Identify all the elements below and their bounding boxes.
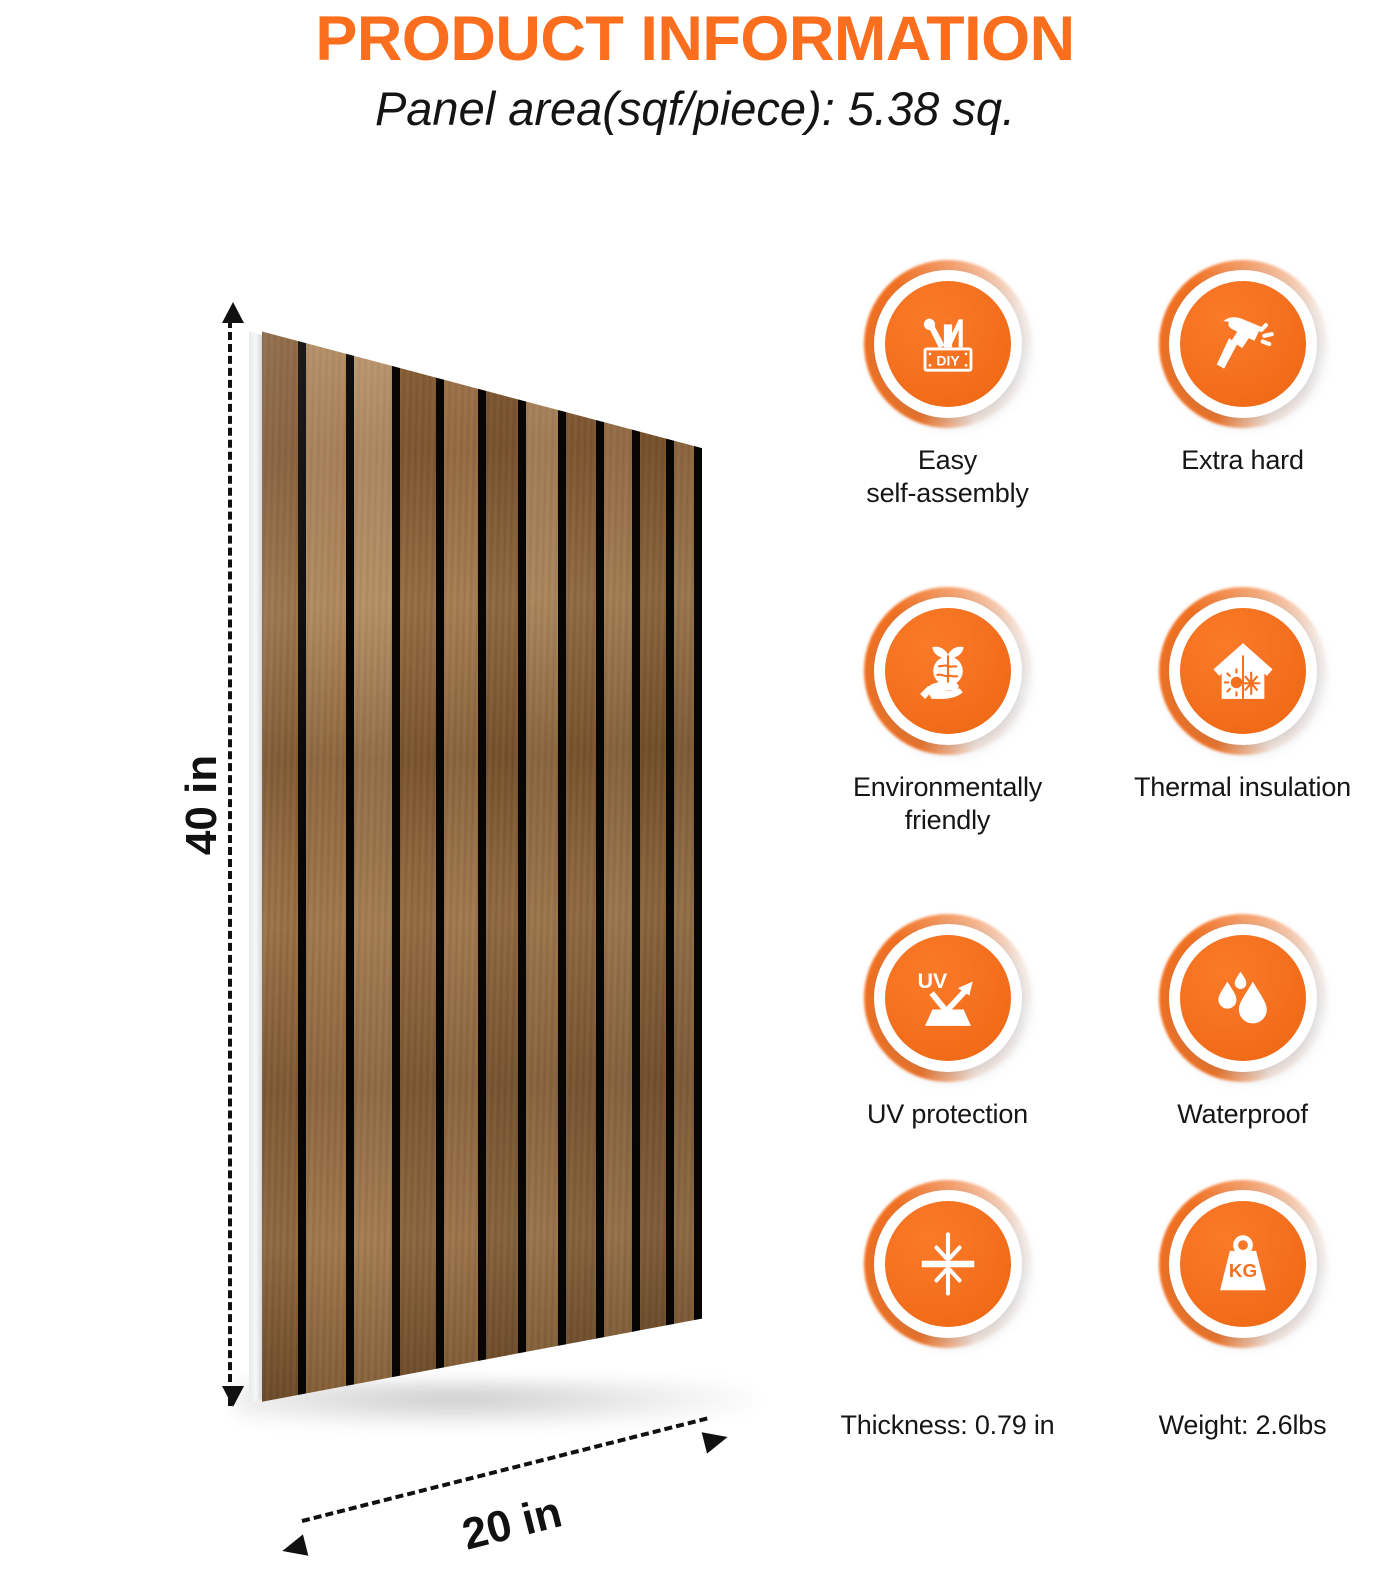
main-content: 40 in 20 in [0,180,1390,1500]
wood-slat [486,325,526,1405]
dimension-arrow-down [222,1386,244,1407]
badge: KG [1159,1180,1327,1348]
feature-label: Easy self-assembly [866,444,1028,510]
svg-text:KG: KG [1228,1260,1256,1281]
features-grid: DIY Easy self-assembly [800,260,1390,1241]
uv-reflection-icon: UV [885,935,1011,1061]
features-pane: DIY Easy self-assembly [800,180,1390,1500]
water-droplets-icon [1180,935,1306,1061]
feature-environmentally-friendly: Environmentally friendly [803,587,1093,914]
wood-slat [674,325,702,1405]
wood-slat [354,325,400,1405]
wood-panel-illustration [262,325,702,1405]
spec-thickness: Thickness: 0.79 in [803,1180,1093,1441]
wood-slat [526,325,566,1405]
house-thermal-icon [1180,608,1306,734]
badge [1159,587,1327,755]
feature-label: UV protection [867,1098,1028,1131]
badge [1159,914,1327,1082]
width-dimension-group: 20 in [280,1415,740,1585]
svg-text:UV: UV [917,969,947,993]
header: PRODUCT INFORMATION Panel area(sqf/piece… [0,0,1390,139]
hammer-icon [1180,281,1306,407]
page-title: PRODUCT INFORMATION [0,6,1390,72]
feature-label: Environmentally friendly [853,771,1042,837]
badge [864,1180,1032,1348]
dimension-arrow-right [702,1426,731,1453]
thickness-caliper-icon [885,1201,1011,1327]
weight-kg-icon: KG [1180,1201,1306,1327]
spec-label: Weight: 2.6lbs [1159,1410,1327,1441]
wood-slat [444,325,486,1405]
feature-thermal-insulation: Thermal insulation [1098,587,1388,914]
wood-slat [262,325,306,1405]
diy-tools-icon: DIY [885,281,1011,407]
dimension-arrow-up [222,302,244,323]
svg-text:DIY: DIY [936,352,960,368]
page-subtitle: Panel area(sqf/piece): 5.38 sq. [0,80,1390,139]
wood-slat [306,325,354,1405]
wood-slat [400,325,444,1405]
product-image-pane: 40 in 20 in [0,180,800,1500]
width-dimension-label: 20 in [457,1487,566,1560]
specs-row: Thickness: 0.79 in KG Weight: 2.6l [800,1180,1390,1441]
hand-holding-globe-icon [885,608,1011,734]
spec-label: Thickness: 0.79 in [840,1410,1054,1441]
spec-weight: KG Weight: 2.6lbs [1098,1180,1388,1441]
wood-slat [604,325,640,1405]
feature-label: Extra hard [1181,444,1304,477]
badge [1159,260,1327,428]
panel-face [262,325,702,1405]
height-dimension-label: 40 in [177,755,227,855]
height-dimension-line [228,320,232,1406]
feature-label: Thermal insulation [1134,771,1351,804]
badge: UV [864,914,1032,1082]
dimension-arrow-left [280,1534,309,1561]
panel-side-edge [249,331,264,1402]
badge: DIY [864,260,1032,428]
wood-slat [640,325,674,1405]
feature-extra-hard: Extra hard [1098,260,1388,587]
wood-slat [566,325,604,1405]
feature-easy-self-assembly: DIY Easy self-assembly [803,260,1093,587]
feature-label: Waterproof [1177,1098,1308,1131]
badge [864,587,1032,755]
